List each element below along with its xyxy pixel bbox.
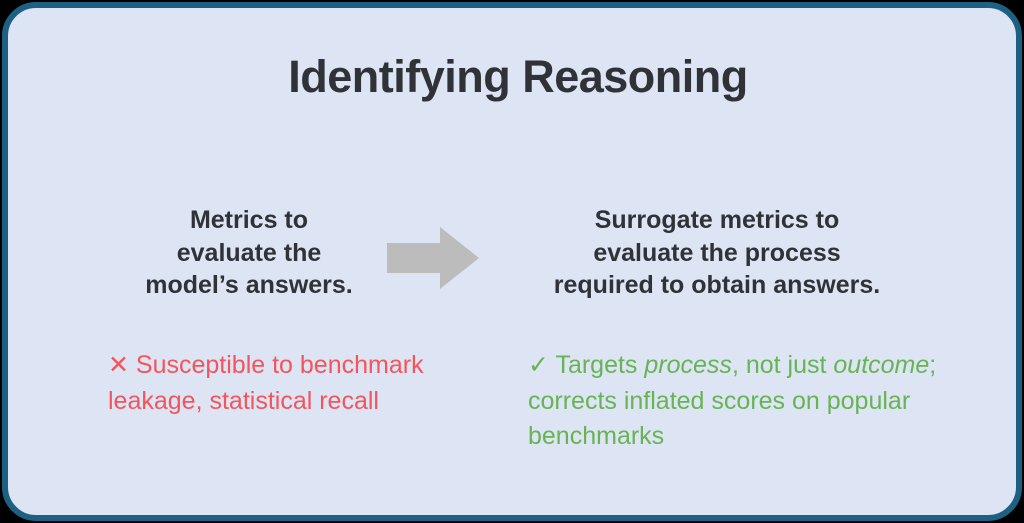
right-body-emphasis-outcome: outcome <box>833 351 929 379</box>
right-body-prefix: Targets <box>555 351 644 379</box>
check-mark-icon: ✓ <box>528 351 549 379</box>
right-arrow-icon <box>387 227 479 289</box>
right-heading-line-1: Surrogate metrics to <box>595 206 840 234</box>
cross-mark-icon: ✕ <box>108 351 129 379</box>
left-body-text: Susceptible to benchmark leakage, statis… <box>108 351 424 415</box>
right-column-heading: Surrogate metrics to evaluate the proces… <box>502 204 932 302</box>
left-column-heading: Metrics to evaluate the model’s answers. <box>104 204 394 302</box>
slide-canvas: Identifying Reasoning Metrics to evaluat… <box>0 0 1024 523</box>
left-column-body: ✕ Susceptible to benchmark leakage, stat… <box>108 348 438 419</box>
right-heading-line-2: evaluate the process <box>593 239 840 267</box>
left-heading-line-2: evaluate the <box>177 239 322 267</box>
right-body-emphasis-process: process <box>644 351 732 379</box>
right-body-middle: , not just <box>732 351 833 379</box>
left-heading-line-1: Metrics to <box>190 206 308 234</box>
slide-frame: Identifying Reasoning Metrics to evaluat… <box>2 2 1022 521</box>
right-heading-line-3: required to obtain answers. <box>554 271 880 299</box>
left-heading-line-3: model’s answers. <box>145 271 353 299</box>
page-title: Identifying Reasoning <box>8 52 1024 102</box>
right-column-body: ✓ Targets process, not just outcome; cor… <box>528 348 948 455</box>
